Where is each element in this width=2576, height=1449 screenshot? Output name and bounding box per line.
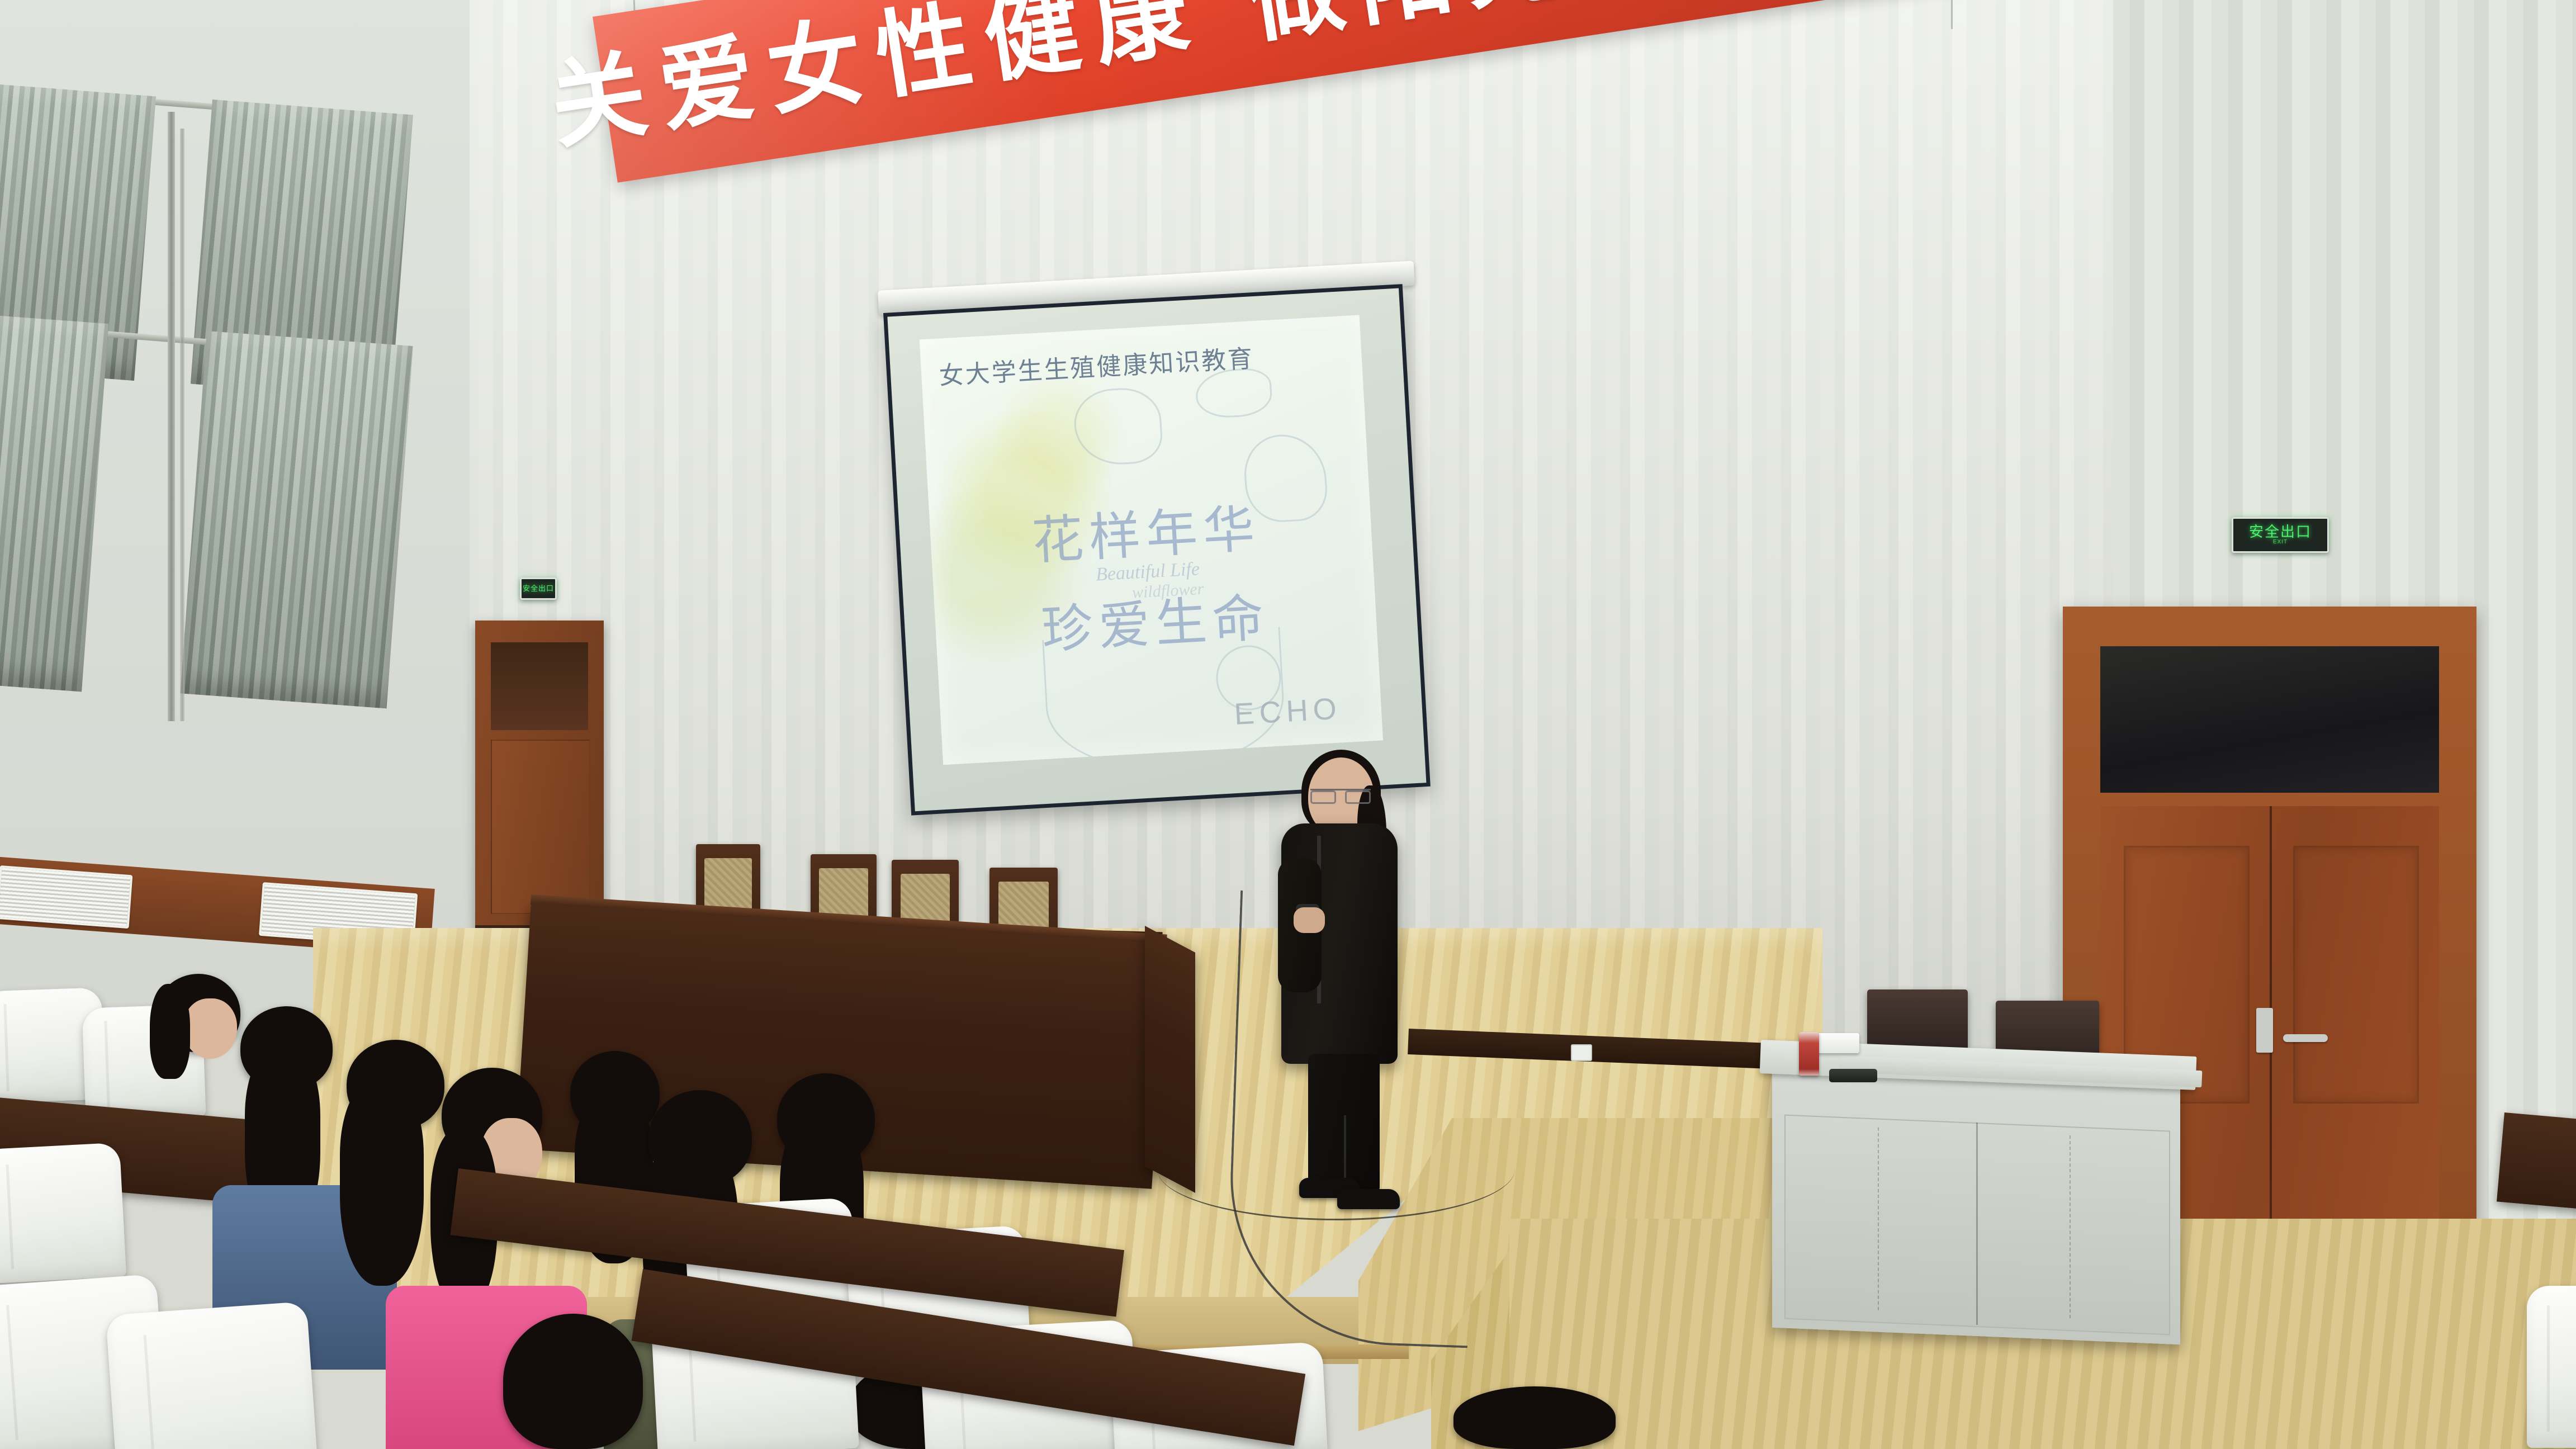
stage-side-door[interactable] (475, 621, 604, 934)
curtain-lower-right (180, 331, 413, 708)
audience-hair (150, 984, 190, 1079)
slide-logo: ECHO (1233, 691, 1342, 732)
wall-pipe-secondary (180, 129, 184, 721)
banner-string-right (1951, 0, 1953, 29)
beverage-can[interactable] (1799, 1032, 1819, 1076)
audience-hair-long (340, 1085, 424, 1286)
projection-screen: 女大学生生殖健康知识教育 花样年华 Beautiful Life wildflo… (883, 284, 1431, 816)
av-chair-1[interactable] (1867, 989, 1968, 1051)
auditorium-photo: 安全出口 关爱女性健康 做阳光女大学生 女大学生生殖健康知识教育 花样年华 Be… (0, 0, 2576, 1449)
seat-cover (2527, 1286, 2576, 1448)
glasses-icon (1310, 789, 1371, 802)
door-handle[interactable] (2256, 1008, 2273, 1053)
exit-sign-left: 安全出口 (520, 577, 557, 600)
seat-cover (106, 1301, 319, 1449)
wall-power-outlet[interactable] (1571, 1044, 1592, 1061)
door-lever[interactable] (2283, 1034, 2328, 1042)
door-lower-panel (491, 740, 591, 914)
seat-cover (0, 1143, 126, 1284)
audience-head (1453, 1386, 1616, 1449)
door-upper-panel (491, 642, 589, 730)
wall-pipe (168, 112, 175, 721)
exit-sign-right: 安全出口 EXIT (2232, 517, 2329, 553)
heating-vent-left (0, 865, 132, 929)
tissue-box[interactable] (1816, 1033, 1859, 1053)
slide-headline-1: 花样年华 (1030, 487, 1262, 575)
floor-cable (1157, 1118, 1515, 1220)
screen-surface: 女大学生生殖健康知识教育 花样年华 Beautiful Life wildflo… (887, 288, 1426, 811)
exit-sign-label: 安全出口 (2249, 525, 2312, 539)
audience-head (503, 1314, 643, 1449)
exit-sign-label-en: EXIT (2273, 539, 2288, 545)
slide-headline-2: 珍爱生命 (1039, 576, 1271, 664)
audience-face (183, 998, 237, 1059)
exit-sign-label: 安全出口 (523, 585, 554, 593)
remote-control[interactable] (1829, 1069, 1877, 1082)
av-control-cabinet[interactable] (1772, 1054, 2180, 1345)
presentation-slide: 女大学生生殖健康知识教育 花样年华 Beautiful Life wildflo… (920, 315, 1383, 765)
door-transom-window (2100, 646, 2440, 793)
